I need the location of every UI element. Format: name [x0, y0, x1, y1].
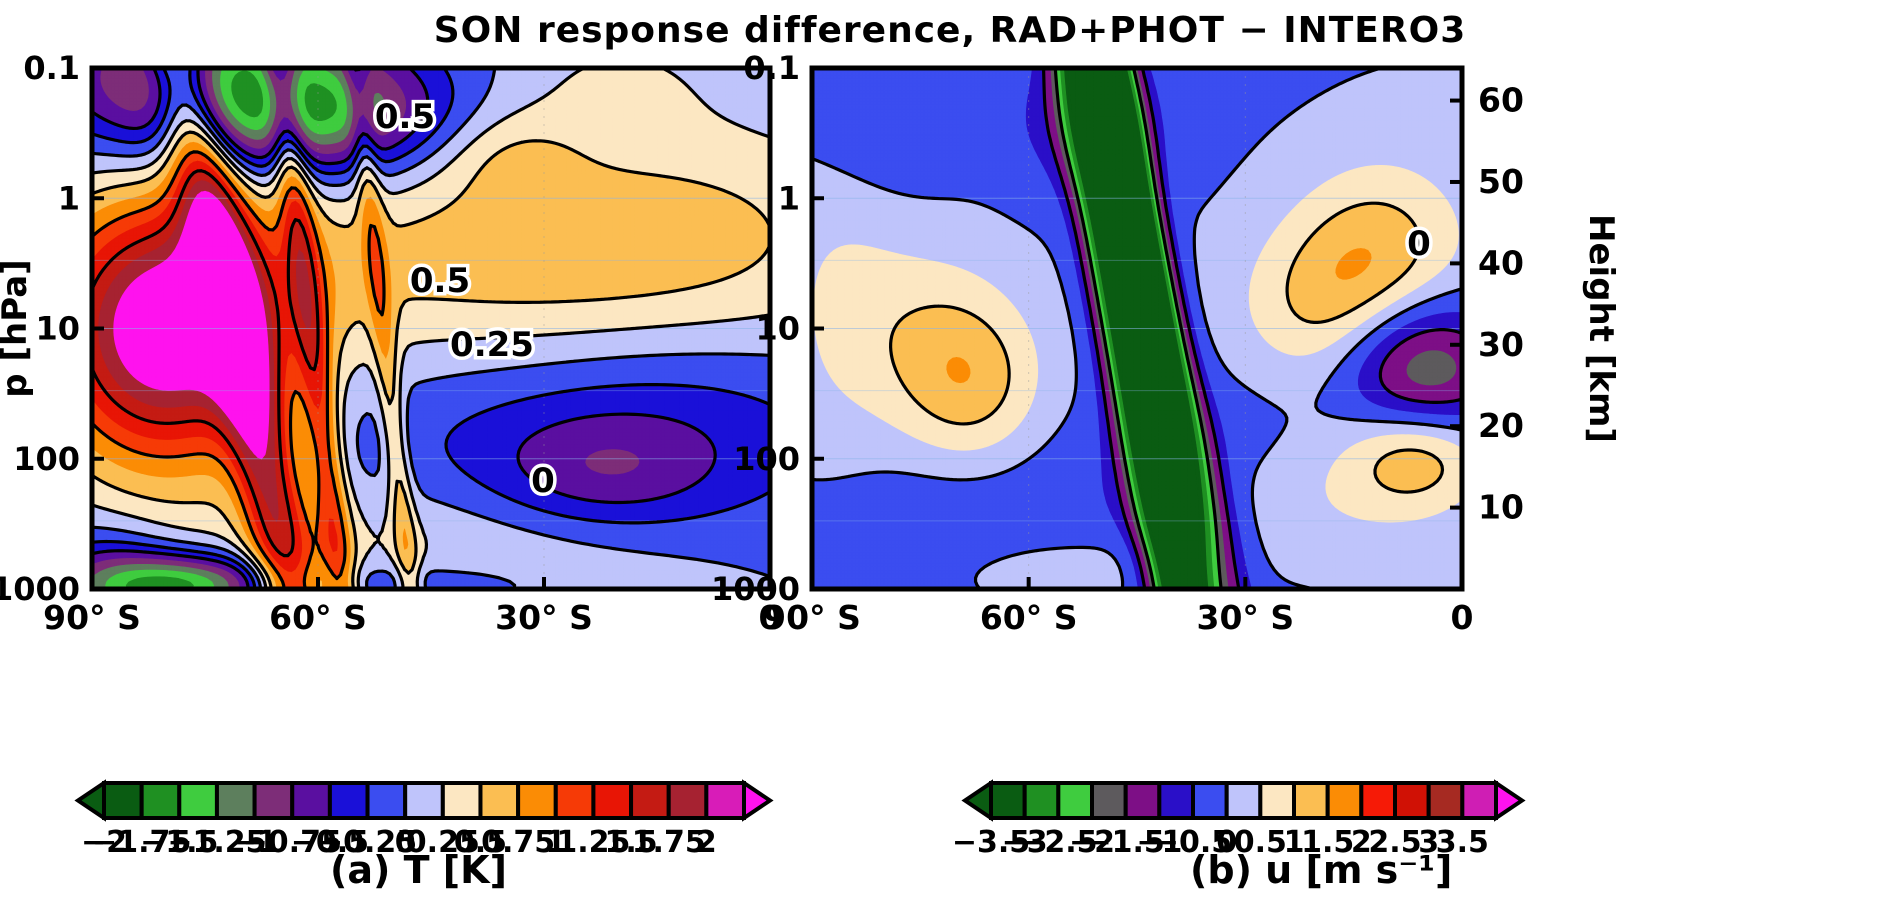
ytick-height-40: 40 [1478, 243, 1524, 282]
ytick-height-20: 20 [1478, 406, 1524, 445]
ytick-a-1: 1 [58, 179, 80, 217]
panel-a-caption: (a) T [K] [330, 848, 507, 892]
ytick-height-50: 50 [1478, 162, 1524, 201]
contour-label-a-4: 0 [531, 461, 555, 501]
ytick-b-left-0.1: 0.1 [743, 49, 800, 87]
ytick-height-60: 60 [1478, 81, 1524, 120]
figure-canvas: 0.1110100100090° S60° S30° S0p [hPa]0.11… [0, 0, 1900, 907]
xtick-b-3: 0 [1451, 598, 1474, 637]
ytick-height-30: 30 [1478, 325, 1524, 364]
figure-title: SON response difference, RAD+PHOT − INTE… [0, 10, 1900, 51]
xtick-b-0: 90° S [763, 598, 861, 637]
contour-label-a-3: 0.25 [450, 325, 534, 365]
ytick-a-10: 10 [35, 310, 80, 348]
contour-label-a-1: 0.5 [375, 97, 435, 137]
colorbar-panel-b [965, 783, 1522, 818]
ytick-b-left-1: 1 [778, 179, 800, 217]
ylabel-right: Height [km] [1581, 214, 1621, 443]
panel-b-caption: (b) u [m s⁻¹] [1190, 848, 1452, 892]
xtick-a-0: 90° S [43, 598, 141, 637]
ytick-b-left-100: 100 [733, 440, 800, 478]
contour-label-b-1: 0 [1407, 224, 1431, 264]
colorbar-panel-a-tick-15: 1.75 [632, 825, 706, 860]
ylabel-left: p [hPa] [0, 259, 35, 397]
ytick-a-100: 100 [13, 440, 80, 478]
ytick-height-10: 10 [1478, 488, 1524, 527]
figure-root: SON response difference, RAD+PHOT − INTE… [0, 0, 1900, 907]
xtick-a-2: 30° S [495, 598, 593, 637]
xtick-b-1: 60° S [980, 598, 1078, 637]
xtick-a-1: 60° S [269, 598, 367, 637]
contour-label-a-2: 0.5 [410, 261, 470, 301]
colorbar-panel-a-tick-16: 2 [696, 825, 717, 860]
ytick-a-0.1: 0.1 [23, 49, 80, 87]
colorbar-panel-a [78, 783, 770, 818]
ytick-b-left-10: 10 [755, 310, 800, 348]
xtick-b-2: 30° S [1196, 598, 1294, 637]
